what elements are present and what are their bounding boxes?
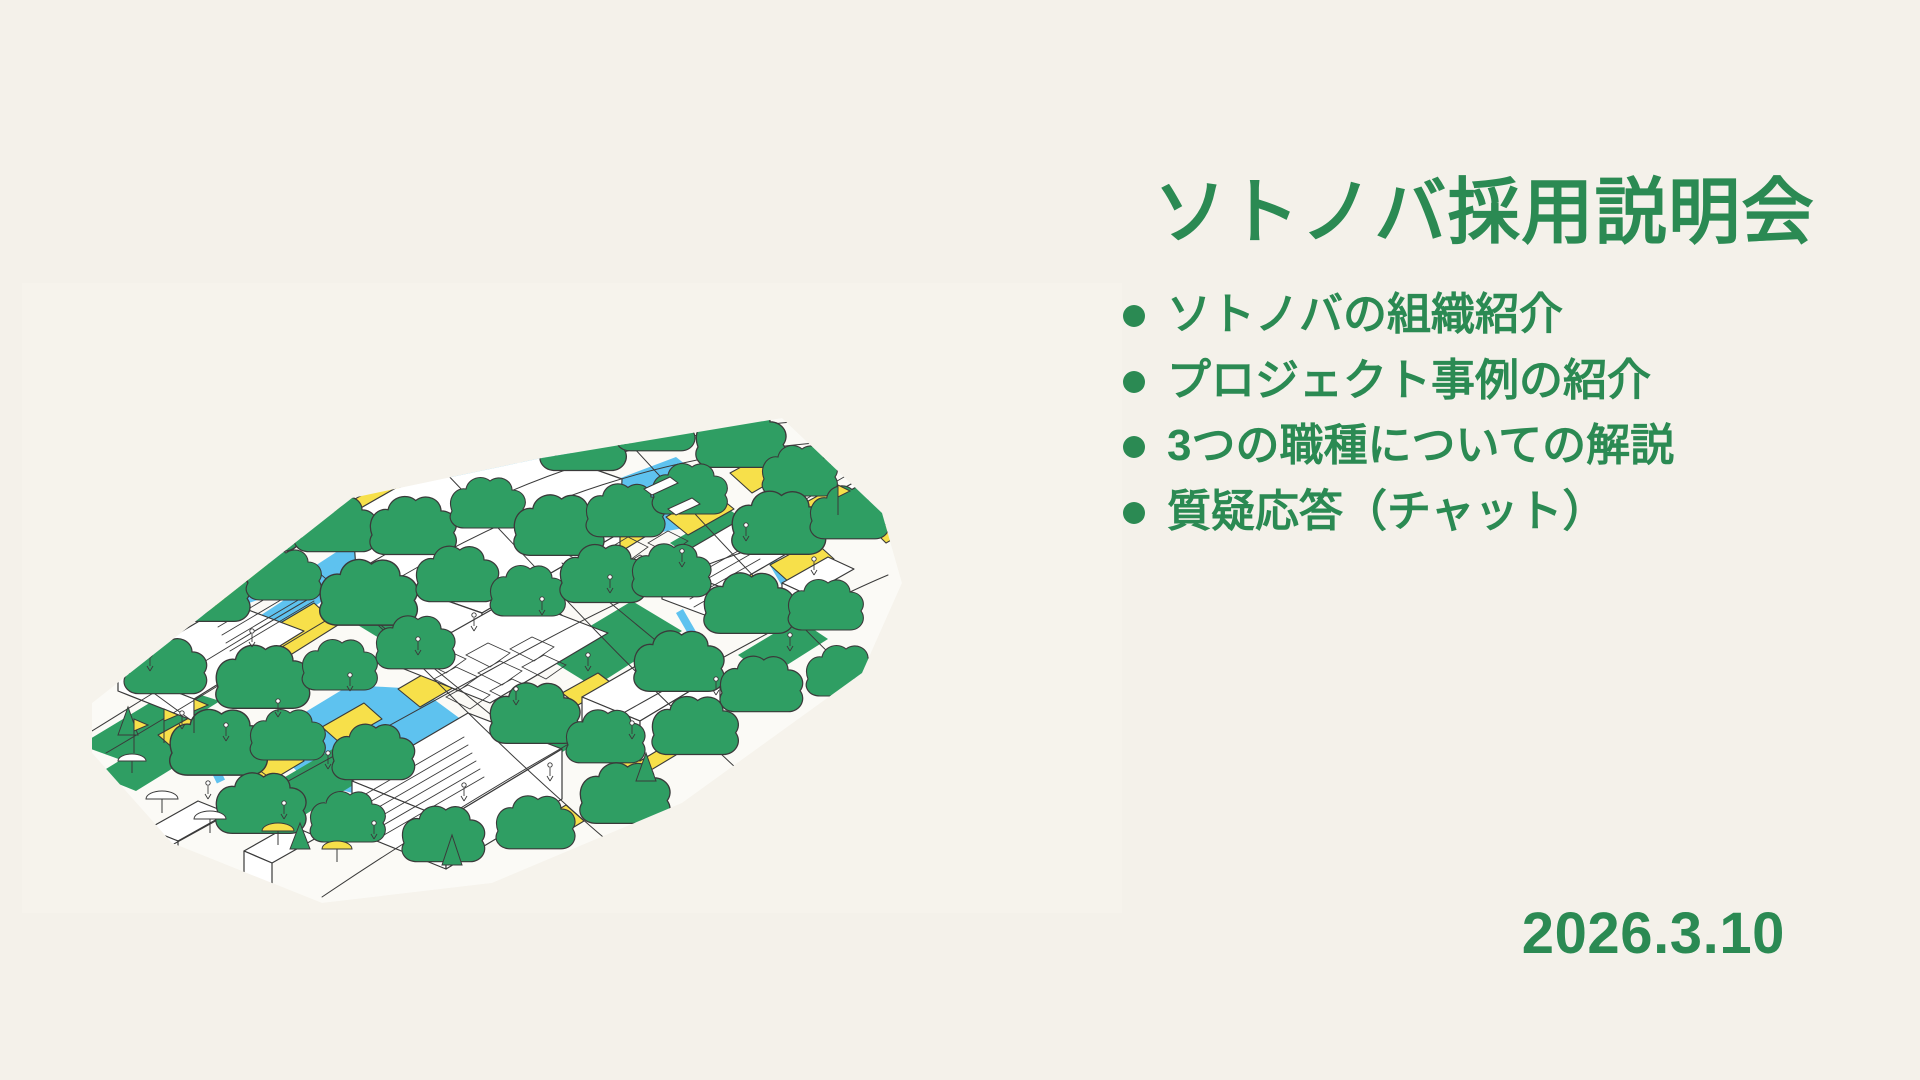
list-item: プロジェクト事例の紹介 <box>955 354 1855 408</box>
slide-root: ソトノバ採用説明会 ソトノバの組織紹介 プロジェクト事例の紹介 3つの職種につい… <box>0 0 1920 1080</box>
list-item: 質疑応答（チャット） <box>955 485 1855 539</box>
bullet-dot-icon <box>1123 436 1145 458</box>
bullet-dot-icon <box>1123 502 1145 524</box>
agenda-item-label: 質疑応答（チャット） <box>1167 485 1607 539</box>
agenda-item-label: プロジェクト事例の紹介 <box>1167 354 1651 408</box>
agenda-list: ソトノバの組織紹介 プロジェクト事例の紹介 3つの職種についての解説 質疑応答（… <box>955 288 1855 551</box>
content-column: ソトノバ採用説明会 ソトノバの組織紹介 プロジェクト事例の紹介 3つの職種につい… <box>955 0 1920 1080</box>
bullet-dot-icon <box>1123 305 1145 327</box>
list-item: ソトノバの組織紹介 <box>955 288 1855 342</box>
event-date: 2026.3.10 <box>955 900 1785 967</box>
agenda-item-label: ソトノバの組織紹介 <box>1167 288 1563 342</box>
page-title: ソトノバ採用説明会 <box>955 176 1815 252</box>
agenda-item-label: 3つの職種についての解説 <box>1167 419 1674 473</box>
bullet-dot-icon <box>1123 371 1145 393</box>
list-item: 3つの職種についての解説 <box>955 419 1855 473</box>
